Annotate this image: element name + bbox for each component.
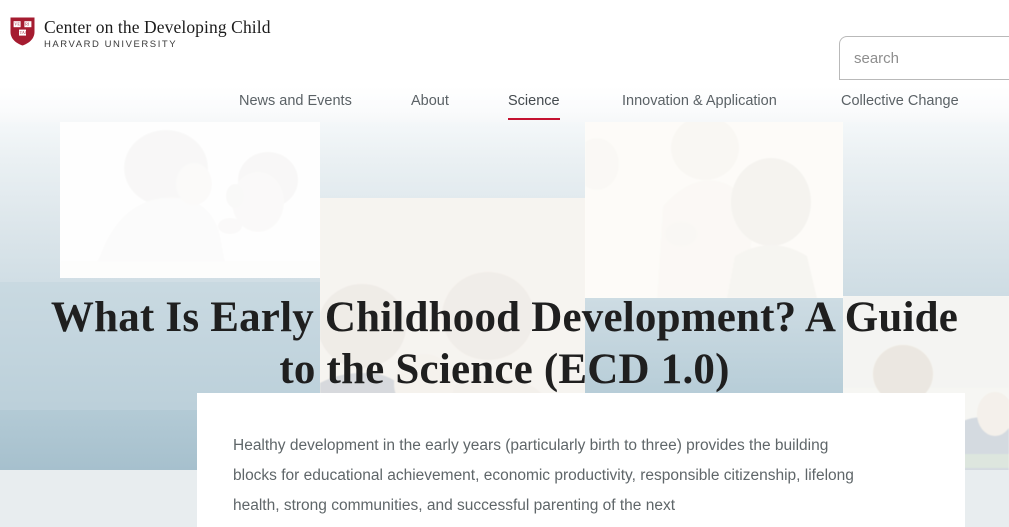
content-card: Healthy development in the early years (…: [197, 393, 965, 527]
nav-active-underline: [508, 118, 560, 120]
intro-paragraph: Healthy development in the early years (…: [197, 393, 909, 521]
hero-photo-mother-and-baby: [60, 110, 320, 278]
photo-fade-veil: [585, 110, 843, 298]
nav-item-label: Collective Change: [841, 93, 959, 109]
svg-text:TAS: TAS: [20, 30, 28, 35]
brand-text-block: Center on the Developing Child HARVARD U…: [44, 16, 271, 51]
search-container: [839, 36, 1009, 80]
harvard-shield-svg: VE RI TAS: [10, 17, 35, 46]
brand-title: Center on the Developing Child: [44, 17, 271, 37]
hero-photo-baby-held-up: [585, 110, 843, 298]
nav-items-container: News and Events About Science Innovation…: [0, 86, 1009, 122]
nav-item-about[interactable]: About: [411, 86, 449, 122]
nav-item-science[interactable]: Science: [508, 86, 560, 122]
page-root: What Is Early Childhood Development? A G…: [0, 0, 1009, 527]
site-logo[interactable]: VE RI TAS Center on the Developing Child…: [10, 16, 271, 51]
nav-item-label: About: [411, 93, 449, 109]
nav-item-collective-change[interactable]: Collective Change: [841, 86, 959, 122]
nav-item-label: News and Events: [239, 93, 352, 109]
nav-item-label: Innovation & Application: [622, 93, 777, 109]
main-navigation: News and Events About Science Innovation…: [0, 86, 1009, 122]
page-title: What Is Early Childhood Development? A G…: [0, 292, 1009, 396]
search-input[interactable]: [839, 36, 1009, 80]
nav-item-label: Science: [508, 93, 560, 109]
nav-item-innovation-and-application[interactable]: Innovation & Application: [622, 86, 777, 122]
nav-item-news-and-events[interactable]: News and Events: [239, 86, 352, 122]
svg-text:RI: RI: [25, 22, 30, 27]
brand-subtitle: HARVARD UNIVERSITY: [44, 39, 271, 51]
svg-text:VE: VE: [14, 22, 20, 27]
site-header: VE RI TAS Center on the Developing Child…: [0, 0, 1009, 86]
photo-fade-veil: [60, 110, 320, 278]
harvard-shield-icon: VE RI TAS: [10, 17, 35, 46]
